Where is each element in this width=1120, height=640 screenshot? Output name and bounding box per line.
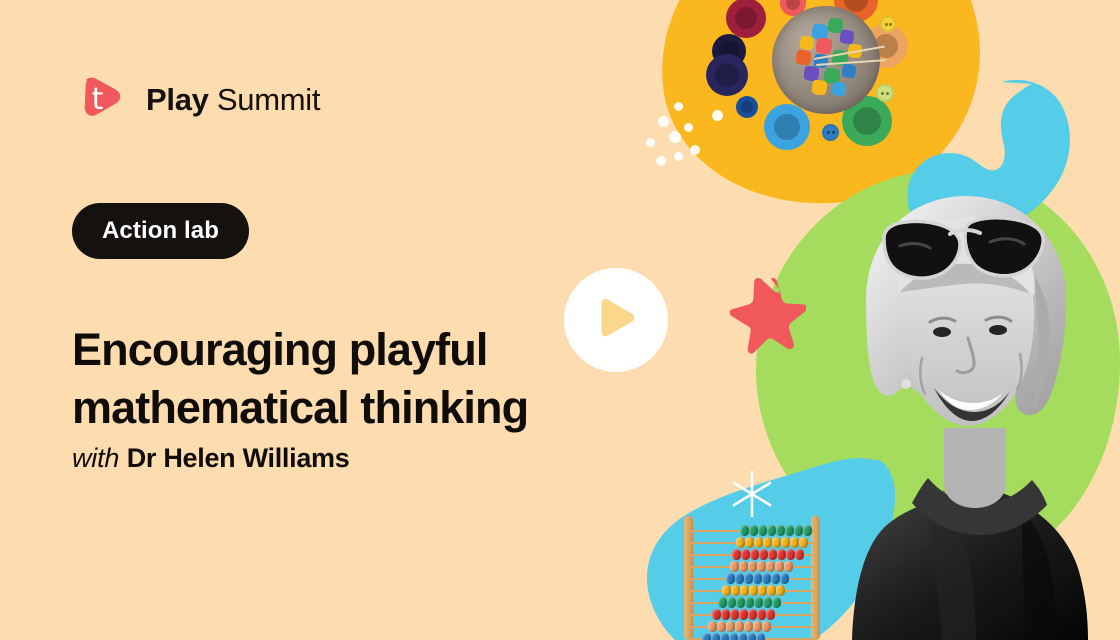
wordmark-play: Play [146, 82, 209, 117]
page-title: Encouraging playful mathematical thinkin… [72, 321, 632, 437]
badge-label: Action lab [102, 217, 219, 245]
orange-blob-shape [641, 0, 1000, 225]
wordmark-summit: Summit [217, 82, 320, 117]
sparkle-icon [730, 470, 774, 518]
green-blob-shape [756, 170, 1120, 570]
play-button[interactable] [564, 268, 668, 372]
status-badge: Action lab [72, 203, 249, 259]
cyan-curve-shape [906, 78, 1096, 264]
white-dot-cluster [630, 100, 740, 190]
bowls-photo [712, 0, 942, 182]
play-icon [596, 298, 636, 342]
promo-banner: t Play Summit Action lab Encouraging pla… [0, 0, 1120, 640]
star-icon [730, 278, 806, 354]
title-line-1: Encouraging playful [72, 324, 487, 375]
presenter-prefix: with [72, 443, 119, 473]
brand-lockup[interactable]: t Play Summit [72, 72, 320, 128]
play-triangle-logo-icon[interactable]: t [72, 72, 128, 128]
presenter-name: Dr Helen Williams [127, 443, 350, 473]
title-line-2: mathematical thinking [72, 382, 528, 433]
brand-wordmark: Play Summit [146, 82, 320, 118]
cyan-triangle-shape [586, 452, 896, 640]
yellow-arch-shape [962, 506, 1044, 578]
speaker-portrait [840, 172, 1090, 640]
abacus-photo [684, 516, 820, 640]
logo-letter: t [72, 72, 128, 128]
presenter-line: with Dr Helen Williams [72, 443, 349, 474]
